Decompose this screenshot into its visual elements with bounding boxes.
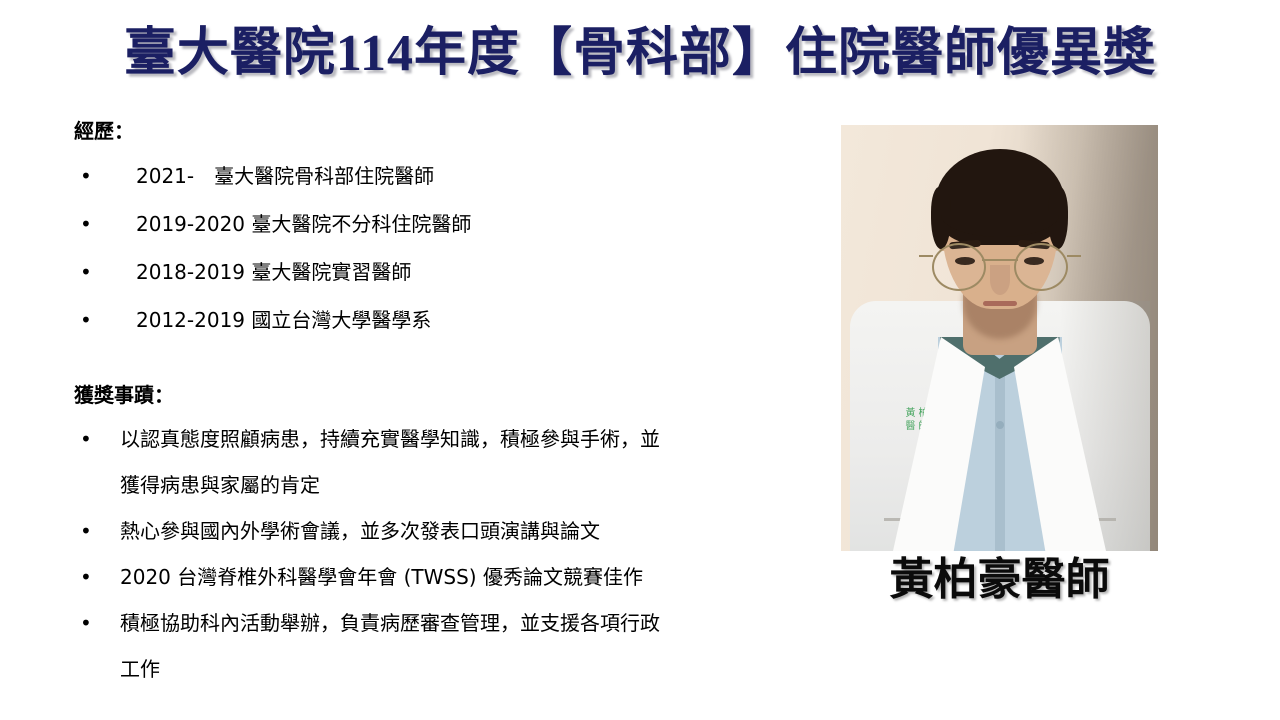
list-item-text: 積極協助科內活動舉辦，負責病歷審查管理，並支援各項行政 [120, 600, 834, 646]
nose [990, 265, 1010, 295]
list-item-text-continued: 獲得病患與家屬的肯定 [120, 462, 834, 508]
list-item-text: 以認真態度照顧病患，持續充實醫學知識，積極參與手術，並 [120, 416, 834, 462]
bullet-dot-icon: • [80, 248, 90, 296]
bullet-dot-icon: • [80, 600, 90, 646]
eyeglass-lens-left [932, 243, 986, 291]
page-title: 臺大醫院114年度【骨科部】住院醫師優異獎 [0, 22, 1280, 86]
eyeglass-temple-left [919, 255, 933, 257]
list-item-text: 2020 台灣脊椎外科醫學會年會 (TWSS) 優秀論文競賽佳作 [120, 554, 834, 600]
bullet-dot-icon: • [80, 296, 90, 344]
list-item: • 2018-2019 臺大醫院實習醫師 [74, 248, 834, 296]
doctor-portrait-photo: 黃柏豪醫師 [841, 125, 1158, 551]
experience-list: • 2021- 臺大醫院骨科部住院醫師 • 2019-2020 臺大醫院不分科住… [74, 152, 834, 344]
list-item-text: 熱心參與國內外學術會議，並多次發表口頭演講與論文 [120, 508, 834, 554]
bullet-dot-icon: • [80, 200, 90, 248]
awards-heading: 獲獎事蹟： [74, 380, 834, 410]
list-item: • 以認真態度照顧病患，持續充實醫學知識，積極參與手術，並 獲得病患與家屬的肯定 [74, 416, 834, 508]
list-item-text: 2019-2020 臺大醫院不分科住院醫師 [136, 200, 834, 248]
list-item-text-continued: 工作 [120, 646, 834, 692]
experience-heading: 經歷： [74, 116, 834, 146]
eyeglass-lens-right [1014, 243, 1068, 291]
mouth [983, 301, 1017, 306]
list-item: • 2012-2019 國立台灣大學醫學系 [74, 296, 834, 344]
shirt-button [996, 421, 1004, 429]
list-item: • 積極協助科內活動舉辦，負責病歷審查管理，並支援各項行政 工作 [74, 600, 834, 692]
eyeglass-bridge [982, 259, 1018, 261]
awards-list: • 以認真態度照顧病患，持續充實醫學知識，積極參與手術，並 獲得病患與家屬的肯定… [74, 416, 834, 692]
eyeglass-temple-right [1067, 255, 1081, 257]
awards-section: 獲獎事蹟： • 以認真態度照顧病患，持續充實醫學知識，積極參與手術，並 獲得病患… [74, 380, 834, 692]
doctor-name-caption: 黃柏豪醫師 [841, 552, 1158, 608]
photo-subject: 黃柏豪醫師 [841, 125, 1158, 551]
bullet-dot-icon: • [80, 554, 90, 600]
list-item-text: 2021- 臺大醫院骨科部住院醫師 [136, 152, 834, 200]
list-item: • 2020 台灣脊椎外科醫學會年會 (TWSS) 優秀論文競賽佳作 [74, 554, 834, 600]
list-item: • 2019-2020 臺大醫院不分科住院醫師 [74, 200, 834, 248]
list-item-text: 2012-2019 國立台灣大學醫學系 [136, 296, 834, 344]
content-column: 經歷： • 2021- 臺大醫院骨科部住院醫師 • 2019-2020 臺大醫院… [74, 116, 834, 692]
list-item-text: 2018-2019 臺大醫院實習醫師 [136, 248, 834, 296]
bullet-dot-icon: • [80, 508, 90, 554]
shirt-placket [995, 375, 1005, 551]
bullet-dot-icon: • [80, 152, 90, 200]
experience-section: 經歷： • 2021- 臺大醫院骨科部住院醫師 • 2019-2020 臺大醫院… [74, 116, 834, 344]
list-item: • 2021- 臺大醫院骨科部住院醫師 [74, 152, 834, 200]
list-item: • 熱心參與國內外學術會議，並多次發表口頭演講與論文 [74, 508, 834, 554]
bullet-dot-icon: • [80, 416, 90, 462]
